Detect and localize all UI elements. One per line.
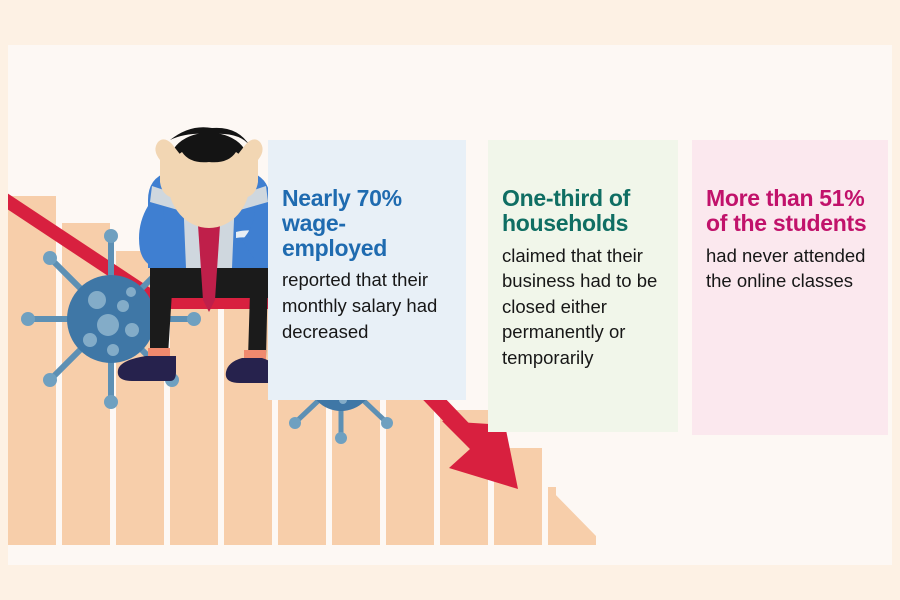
callout-body-households: claimed that their business had to be cl… — [502, 243, 662, 371]
callout-headline-wage: Nearly 70% wage-employed — [282, 186, 450, 260]
infographic-canvas: Nearly 70% wage-employed reported that t… — [0, 0, 900, 600]
callout-body-wage: reported that their monthly salary had d… — [282, 267, 450, 344]
callout-card-students: More than 51% of the students had never … — [692, 140, 888, 435]
callout-body-students: had never attended the online classes — [706, 243, 872, 294]
callout-card-households: One-third of households claimed that the… — [488, 140, 678, 432]
callout-headline-households: One-third of households — [502, 186, 662, 236]
callout-headline-students: More than 51% of the students — [706, 186, 872, 236]
callout-card-wage: Nearly 70% wage-employed reported that t… — [268, 140, 466, 400]
